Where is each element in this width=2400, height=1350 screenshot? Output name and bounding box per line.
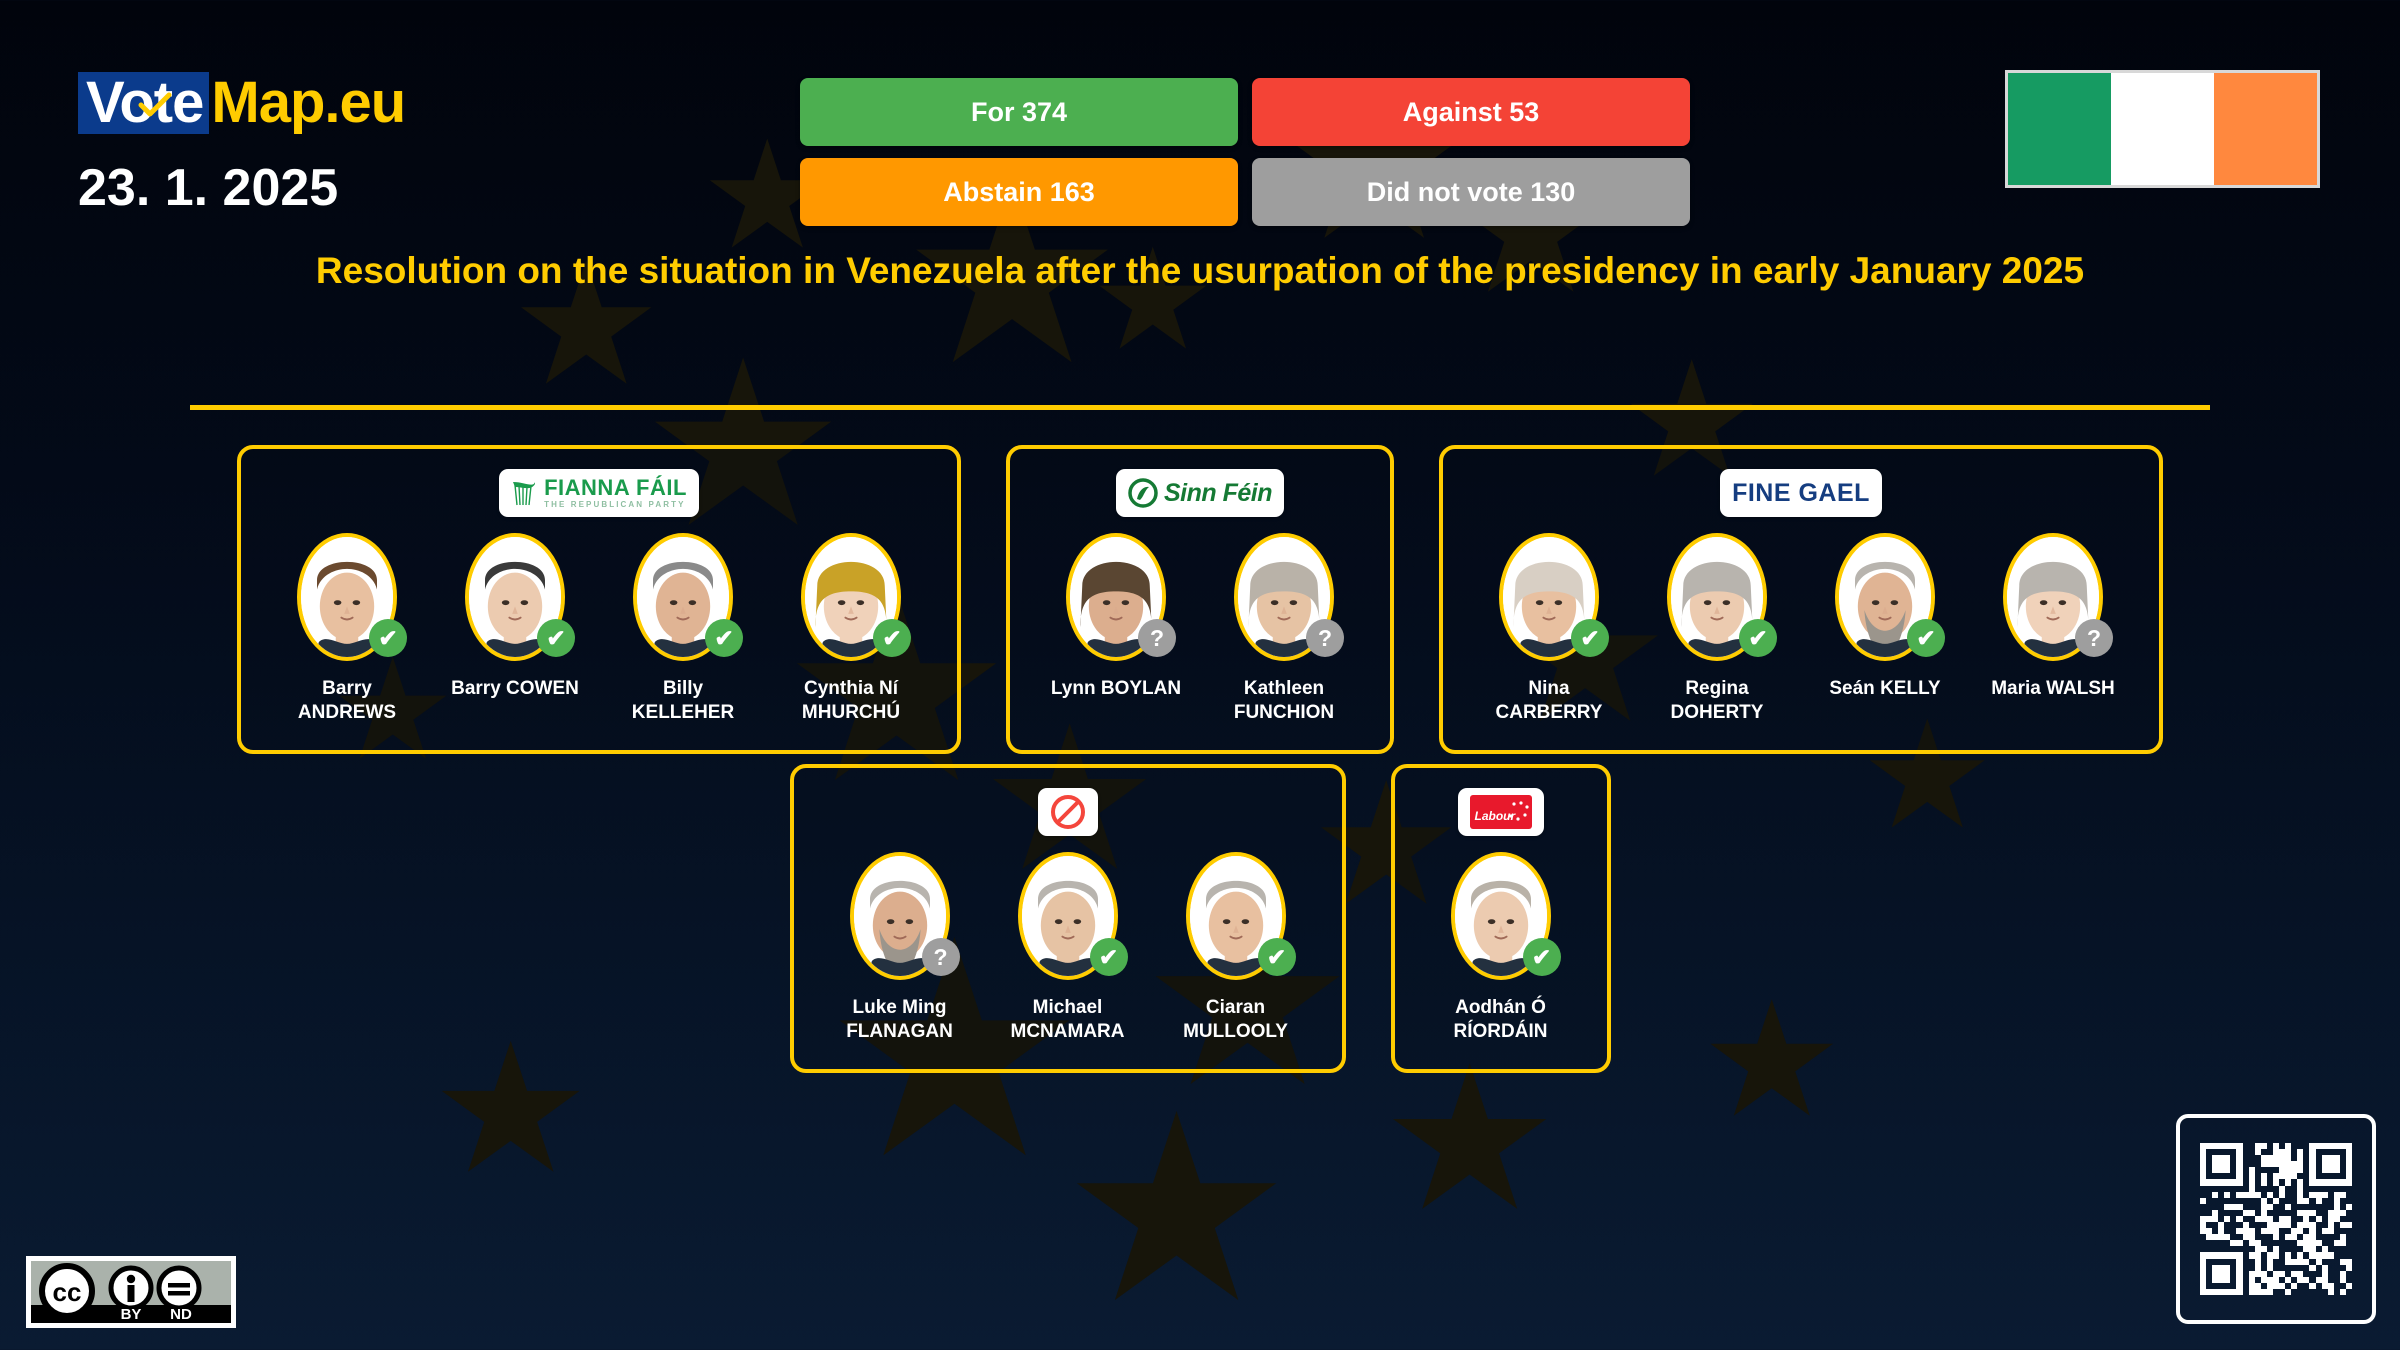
vote-for-badge-icon: ✔ — [873, 619, 911, 657]
member-avatar-wrap: ✔ — [1186, 852, 1286, 980]
member-avatar-wrap: ? — [1066, 533, 1166, 661]
vote-tally: For 374 Against 53 Abstain 163 Did not v… — [800, 78, 1690, 226]
party-logo-non-attached — [1038, 788, 1098, 836]
member-avatar-wrap: ✔ — [1835, 533, 1935, 661]
vote-for-badge-icon: ✔ — [1571, 619, 1609, 657]
page-title: Resolution on the situation in Venezuela… — [100, 252, 2300, 289]
member-card[interactable]: ? Lynn BOYLAN — [1040, 533, 1192, 701]
member-avatar-wrap: ✔ — [1667, 533, 1767, 661]
member-name: Nina CARBERRY — [1496, 677, 1603, 724]
qr-code-grid — [2200, 1143, 2352, 1295]
vote-for-badge-icon: ✔ — [705, 619, 743, 657]
member-list: ✔ Barry ANDREWS ✔ Barry COWEN — [271, 533, 927, 724]
member-list: ? Luke Ming FLANAGAN ✔ Michael MCNAMARA — [824, 852, 1312, 1043]
vote-did-not-vote-badge-icon: ? — [2075, 619, 2113, 657]
flag-stripe-white — [2111, 73, 2214, 185]
member-avatar-wrap: ✔ — [297, 533, 397, 661]
cc-license-inner: cc BY ND — [31, 1261, 231, 1323]
party-panel-labour: Labour ✔ Aodhán Ó RÍORDÁIN — [1391, 764, 1611, 1073]
vote-for-badge-icon: ✔ — [537, 619, 575, 657]
harp-icon — [511, 479, 537, 507]
party-logo-label: FIANNA FÁIL — [544, 477, 687, 499]
member-avatar-wrap: ✔ — [1451, 852, 1551, 980]
party-panel-sinn-fein: Sinn Féin ? Lynn BOYLAN — [1006, 445, 1394, 754]
member-name: Regina DOHERTY — [1671, 677, 1764, 724]
party-logo-sublabel: THE REPUBLICAN PARTY — [544, 501, 687, 509]
vote-for-badge-icon: ✔ — [369, 619, 407, 657]
party-groups: FIANNA FÁIL THE REPUBLICAN PARTY ✔ Barry… — [0, 445, 2400, 1073]
member-name: Seán KELLY — [1829, 677, 1940, 701]
svg-text:cc: cc — [53, 1277, 82, 1307]
member-list: ? Lynn BOYLAN ? Kathleen FUNCHION — [1040, 533, 1360, 724]
vote-for-badge-icon: ✔ — [1523, 938, 1561, 976]
member-avatar-wrap: ✔ — [633, 533, 733, 661]
qr-module — [2346, 1289, 2352, 1295]
party-panel-fianna-fail: FIANNA FÁIL THE REPUBLICAN PARTY ✔ Barry… — [237, 445, 961, 754]
flag-stripe-orange — [2214, 73, 2317, 185]
member-name: Barry ANDREWS — [298, 677, 396, 724]
member-avatar-wrap: ✔ — [801, 533, 901, 661]
party-row-top: FIANNA FÁIL THE REPUBLICAN PARTY ✔ Barry… — [0, 445, 2400, 754]
tally-abstain[interactable]: Abstain 163 — [800, 158, 1238, 226]
logo-vote-text: Vote — [78, 72, 209, 134]
vote-for-badge-icon: ✔ — [1090, 938, 1128, 976]
member-card[interactable]: ✔ Ciaran MULLOOLY — [1160, 852, 1312, 1043]
cc-license-badge[interactable]: cc BY ND — [26, 1256, 236, 1328]
party-logo-sinn-fein: Sinn Féin — [1116, 469, 1284, 517]
vote-for-badge-icon: ✔ — [1907, 619, 1945, 657]
member-name: Aodhán Ó RÍORDÁIN — [1454, 996, 1548, 1043]
member-name: Maria WALSH — [1991, 677, 2115, 701]
member-name: Ciaran MULLOOLY — [1183, 996, 1288, 1043]
vote-did-not-vote-badge-icon: ? — [1306, 619, 1344, 657]
cc-license-icons: cc BY ND — [31, 1261, 231, 1323]
member-name: Cynthia Ní MHURCHÚ — [802, 677, 900, 724]
party-logo-label: Sinn Féin — [1164, 479, 1272, 508]
vote-did-not-vote-badge-icon: ? — [1138, 619, 1176, 657]
member-avatar-wrap: ? — [850, 852, 950, 980]
member-card[interactable]: ✔ Barry ANDREWS — [271, 533, 423, 724]
member-list: ✔ Nina CARBERRY ✔ Regina DOHERTY — [1473, 533, 2129, 724]
site-logo[interactable]: Vote Map.eu — [78, 72, 405, 134]
tally-against[interactable]: Against 53 — [1252, 78, 1690, 146]
member-card[interactable]: ✔ Cynthia Ní MHURCHÚ — [775, 533, 927, 724]
member-name: Lynn BOYLAN — [1051, 677, 1181, 701]
cc-nd-label: ND — [170, 1306, 192, 1323]
party-logo-label: FINE GAEL — [1732, 479, 1870, 508]
logo-map-label: Map.eu — [211, 72, 405, 134]
vote-did-not-vote-badge-icon: ? — [922, 938, 960, 976]
page-header: Vote Map.eu 23. 1. 2025 For 374 Against … — [0, 0, 2400, 260]
member-name: Barry COWEN — [451, 677, 579, 701]
member-avatar-wrap: ✔ — [465, 533, 565, 661]
ireland-flag — [2005, 70, 2320, 188]
member-card[interactable]: ✔ Seán KELLY — [1809, 533, 1961, 701]
party-logo-fine-gael: FINE GAEL — [1720, 469, 1882, 517]
logo-vote-label: Vote — [86, 70, 203, 135]
member-card[interactable]: ✔ Nina CARBERRY — [1473, 533, 1625, 724]
party-logo-fianna-fail: FIANNA FÁIL THE REPUBLICAN PARTY — [499, 469, 699, 517]
member-avatar-wrap: ? — [2003, 533, 2103, 661]
member-card[interactable]: ✔ Billy KELLEHER — [607, 533, 759, 724]
member-avatar-wrap: ? — [1234, 533, 1334, 661]
vote-for-badge-icon: ✔ — [1739, 619, 1777, 657]
flag-stripe-green — [2008, 73, 2111, 185]
tally-for[interactable]: For 374 — [800, 78, 1238, 146]
qr-code[interactable] — [2176, 1114, 2376, 1324]
title-divider — [190, 405, 2210, 410]
member-avatar-wrap: ✔ — [1018, 852, 1118, 980]
member-card[interactable]: ✔ Barry COWEN — [439, 533, 591, 701]
party-logo-label: Labour — [1475, 809, 1516, 823]
sinn-fein-emblem-icon — [1128, 478, 1158, 508]
member-card[interactable]: ? Luke Ming FLANAGAN — [824, 852, 976, 1043]
member-card[interactable]: ✔ Aodhán Ó RÍORDÁIN — [1425, 852, 1577, 1043]
member-card[interactable]: ? Maria WALSH — [1977, 533, 2129, 701]
member-card[interactable]: ✔ Regina DOHERTY — [1641, 533, 1793, 724]
member-name: Kathleen FUNCHION — [1234, 677, 1334, 724]
member-card[interactable]: ? Kathleen FUNCHION — [1208, 533, 1360, 724]
party-panel-non-attached: ? Luke Ming FLANAGAN ✔ Michael MCNAMARA — [790, 764, 1346, 1073]
member-name: Luke Ming FLANAGAN — [846, 996, 953, 1043]
vote-date: 23. 1. 2025 — [78, 158, 338, 218]
party-row-bottom: ? Luke Ming FLANAGAN ✔ Michael MCNAMARA — [0, 764, 2400, 1073]
member-avatar-wrap: ✔ — [1499, 533, 1599, 661]
member-name: Billy KELLEHER — [632, 677, 734, 724]
member-card[interactable]: ✔ Michael MCNAMARA — [992, 852, 1144, 1043]
tally-did-not-vote[interactable]: Did not vote 130 — [1252, 158, 1690, 226]
party-panel-fine-gael: FINE GAEL ✔ Nina CARBERRY — [1439, 445, 2163, 754]
party-logo-labour: Labour — [1458, 788, 1544, 836]
labour-emblem-icon: Labour — [1470, 795, 1532, 829]
cc-by-label: BY — [121, 1306, 142, 1323]
background-star: ★ — [1060, 1080, 1293, 1340]
vote-for-badge-icon: ✔ — [1258, 938, 1296, 976]
prohibition-icon — [1048, 792, 1088, 832]
member-name: Michael MCNAMARA — [1011, 996, 1125, 1043]
member-list: ✔ Aodhán Ó RÍORDÁIN — [1425, 852, 1577, 1043]
